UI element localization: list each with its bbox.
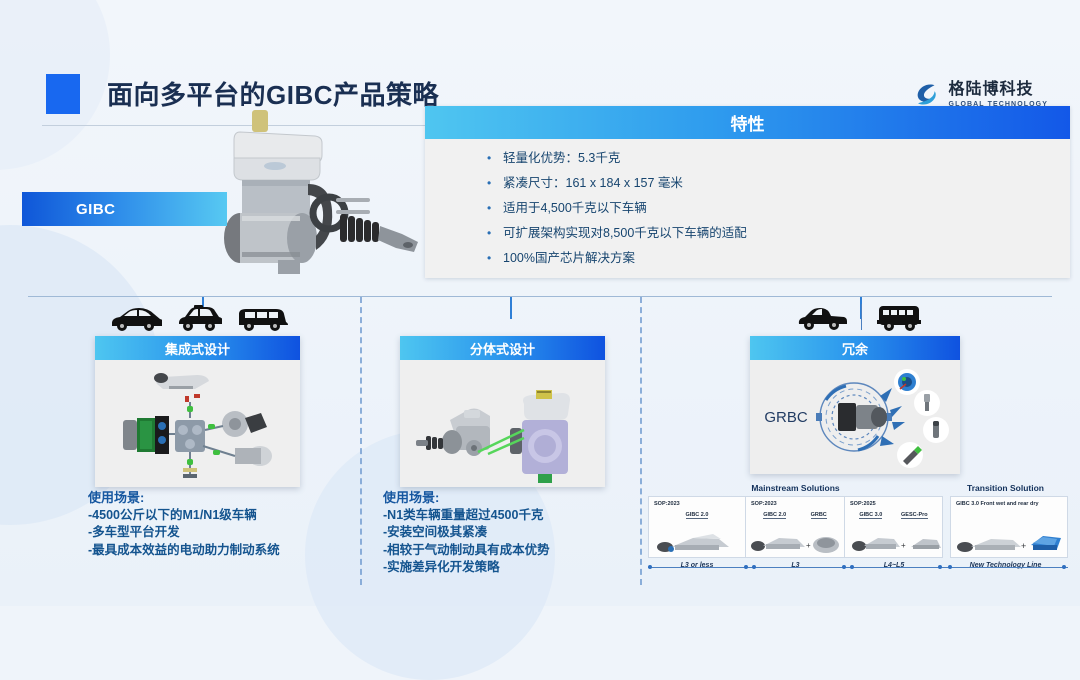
bullet-icon: •: [487, 251, 503, 266]
product-label: GESC-Pro: [901, 512, 928, 519]
card-integrated-design[interactable]: 集成式设计: [95, 336, 300, 487]
feature-text: 100%国产芯片解决方案: [503, 251, 635, 266]
card-split-design[interactable]: 分体式设计: [400, 336, 605, 487]
section-divider: [28, 296, 1052, 297]
slide-root: 面向多平台的GIBC产品策略 格陆博科技 GLOBAL TECHNOLOGY 特…: [0, 0, 1080, 606]
column-divider-1: [360, 297, 362, 585]
axis-line: [648, 567, 1068, 568]
svg-text:+: +: [901, 541, 906, 550]
usecase-line: -N1类车辆重量超过4500千克: [383, 507, 550, 525]
vehicle-icon-group-left: [108, 305, 288, 331]
page-title: 面向多平台的GIBC产品策略: [107, 75, 439, 112]
usecase-block-middle: 使用场景: -N1类车辆重量超过4500千克 -安装空间极其紧凑 -相较于气动制…: [383, 489, 550, 577]
taxi-sedan-icon: [176, 305, 222, 331]
solution-cell[interactable]: SOP:2023 GIBC 2.0: [648, 496, 746, 558]
product-label: GIBC 2.0: [763, 512, 786, 519]
axis-dot: [948, 565, 952, 569]
features-panel: 特性 • 轻量化优势：5.3千克 • 紧凑尺寸：161 x 184 x 157 …: [425, 106, 1070, 278]
axis-dot: [648, 565, 652, 569]
usecase-line: -多车型平台开发: [88, 524, 280, 542]
svg-text:+: +: [806, 541, 811, 550]
feature-item: • 轻量化优势：5.3千克: [487, 151, 1070, 166]
card-redundancy[interactable]: 冗余 GRBC: [750, 336, 960, 474]
column-divider-2: [640, 297, 642, 585]
product-label: GIBC 2.0: [686, 512, 709, 519]
axis-dot: [1062, 565, 1066, 569]
product-thumbnail: +: [955, 527, 1065, 555]
exploded-assembly-diagram: [95, 360, 300, 487]
product-label: GRBC: [811, 512, 827, 519]
usecase-line: -相较于气动制动具有成本优势: [383, 542, 550, 560]
usecase-line: -实施差异化开发策略: [383, 559, 550, 577]
product-thumbnail: +: [750, 525, 842, 555]
solutions-roadmap: Mainstream Solutions Transition Solution…: [648, 483, 1068, 578]
usecase-line: -最具成本效益的电动助力制动系统: [88, 542, 280, 560]
transition-solution-cell[interactable]: GIBC 3.0 Front wet and rear dry +: [950, 496, 1068, 558]
bullet-icon: •: [487, 176, 503, 191]
solutions-titles: Mainstream Solutions Transition Solution: [648, 483, 1068, 493]
card-title: 集成式设计: [95, 336, 300, 360]
split-assembly-diagram: [400, 360, 605, 487]
transition-text: GIBC 3.0 Front wet and rear dry: [956, 501, 1062, 509]
feature-text: 可扩展架构实现对8,500千克以下车辆的适配: [503, 226, 747, 241]
card-image: [400, 360, 605, 487]
card-title: 冗余: [750, 336, 960, 360]
usecase-heading: 使用场景:: [383, 489, 550, 507]
transition-solution-title: Transition Solution: [943, 483, 1068, 493]
axis-dot: [938, 565, 942, 569]
grbc-redundancy-diagram: GRBC: [750, 360, 960, 474]
feature-item: • 紧凑尺寸：161 x 184 x 157 毫米: [487, 176, 1070, 191]
pickup-truck-icon: [795, 304, 847, 330]
feature-text: 紧凑尺寸：161 x 184 x 157 毫米: [503, 176, 683, 191]
feature-item: • 100%国产芯片解决方案: [487, 251, 1070, 266]
product-labels: GIBC 2.0: [654, 512, 740, 519]
hatchback-car-icon: [108, 305, 162, 331]
product-labels: GIBC 3.0 GESC-Pro: [850, 512, 937, 519]
bus-icon: [876, 303, 922, 331]
card-image: [95, 360, 300, 487]
sop-label: SOP:2023: [654, 501, 740, 507]
solution-cell[interactable]: SOP:2025 GIBC 3.0 GESC-Pro +: [845, 496, 943, 558]
card-title: 分体式设计: [400, 336, 605, 360]
product-labels: GIBC 2.0 GRBC: [751, 512, 839, 519]
icon-group-separator: [861, 304, 862, 330]
column-tick: [510, 297, 512, 319]
usecase-block-left: 使用场景: -4500公斤以下的M1/N1级车辆 -多车型平台开发 -最具成本效…: [88, 489, 280, 559]
card-image: GRBC: [750, 360, 960, 474]
title-accent-square: [46, 74, 80, 114]
solutions-grid: SOP:2023 GIBC 2.0 SOP:2023 GIBC 2.0 GRBC: [648, 496, 1068, 558]
solution-cell[interactable]: SOP:2023 GIBC 2.0 GRBC +: [746, 496, 845, 558]
bullet-icon: •: [487, 151, 503, 166]
product-thumbnail: +: [849, 525, 941, 555]
vehicle-icon-group-right: [795, 303, 922, 331]
gibc-banner-label: GIBC: [76, 201, 116, 218]
sop-label: SOP:2025: [850, 501, 937, 507]
bullet-icon: •: [487, 226, 503, 241]
usecase-line: -安装空间极其紧凑: [383, 524, 550, 542]
sop-label: SOP:2023: [751, 501, 839, 507]
features-list: • 轻量化优势：5.3千克 • 紧凑尺寸：161 x 184 x 157 毫米 …: [425, 139, 1070, 266]
grbc-center-label: GRBC: [764, 409, 808, 426]
gibc-banner: GIBC: [22, 192, 227, 226]
logo-chinese-name: 格陆博科技: [949, 82, 1048, 98]
feature-text: 轻量化优势：5.3千克: [503, 151, 620, 166]
product-thumbnail: [655, 525, 741, 555]
usecase-line: -4500公斤以下的M1/N1级车辆: [88, 507, 280, 525]
suv-van-icon: [236, 305, 288, 331]
usecase-heading: 使用场景:: [88, 489, 280, 507]
mainstream-solutions-title: Mainstream Solutions: [648, 483, 943, 493]
product-label: GIBC 3.0: [859, 512, 882, 519]
feature-text: 适用于4,500千克以下车辆: [503, 201, 647, 216]
bullet-icon: •: [487, 201, 503, 216]
axis-dot: [842, 565, 846, 569]
axis-dot: [752, 565, 756, 569]
feature-item: • 可扩展架构实现对8,500千克以下车辆的适配: [487, 226, 1070, 241]
features-heading: 特性: [425, 106, 1070, 139]
slide-header: 面向多平台的GIBC产品策略 格陆博科技 GLOBAL TECHNOLOGY: [0, 30, 1080, 92]
feature-item: • 适用于4,500千克以下车辆: [487, 201, 1070, 216]
axis-dot: [744, 565, 748, 569]
axis-dot: [850, 565, 854, 569]
svg-text:+: +: [1021, 541, 1026, 551]
solutions-axis: L3 or less L3 L4~L5 New Technology Line: [648, 562, 1068, 578]
